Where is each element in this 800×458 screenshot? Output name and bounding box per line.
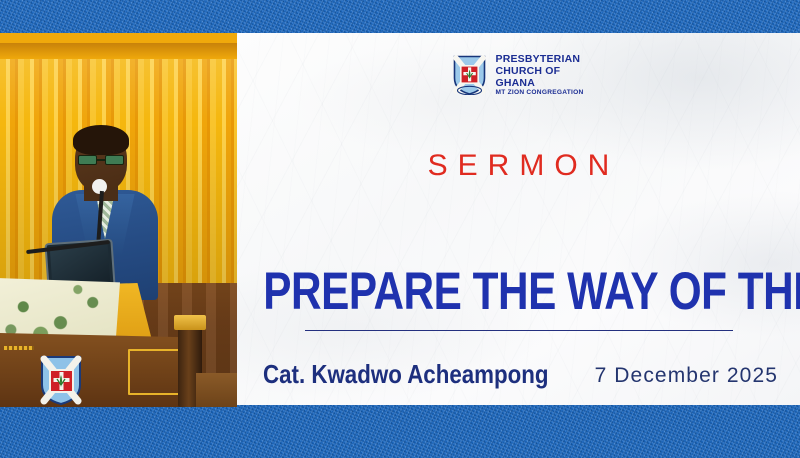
presbyterian-crest-icon	[40, 355, 82, 405]
church-name-line-1: PRESBYTERIAN	[495, 54, 583, 65]
speaker-name: Cat. Kwadwo Acheampong	[263, 359, 549, 390]
title-divider	[305, 330, 733, 331]
eyeglasses-icon	[78, 155, 124, 165]
eyeglass-lens-right	[105, 155, 124, 165]
sermon-kicker-label: SERMON	[237, 149, 800, 183]
preacher-hair	[73, 125, 129, 155]
curtain-valance	[0, 43, 237, 59]
eyeglass-lens-left	[78, 155, 97, 165]
sermon-title: PREPARE THE WAY OF THE LORD	[263, 264, 773, 317]
pulpit-gold-band	[4, 346, 34, 350]
sanctuary-floor	[196, 373, 237, 407]
speaker-video-panel[interactable]	[0, 33, 237, 407]
column-capital	[174, 315, 206, 330]
presbyterian-crest-icon	[453, 55, 486, 95]
sermon-date: 7 December 2025	[595, 364, 778, 388]
eyeglass-bridge	[97, 159, 105, 161]
congregation-name: MT ZION CONGREGATION	[495, 90, 583, 97]
church-name-line-3: GHANA	[495, 78, 583, 89]
sermon-slide-card: PRESBYTERIAN CHURCH OF GHANA MT ZION CON…	[237, 33, 800, 405]
church-name-text: PRESBYTERIAN CHURCH OF GHANA MT ZION CON…	[495, 54, 583, 97]
sermon-meta-row: Cat. Kwadwo Acheampong 7 December 2025	[263, 361, 778, 388]
church-name-line-2: CHURCH OF	[495, 66, 583, 77]
church-logo-block: PRESBYTERIAN CHURCH OF GHANA MT ZION CON…	[237, 54, 800, 97]
pulpit-gold-trim	[128, 349, 184, 395]
